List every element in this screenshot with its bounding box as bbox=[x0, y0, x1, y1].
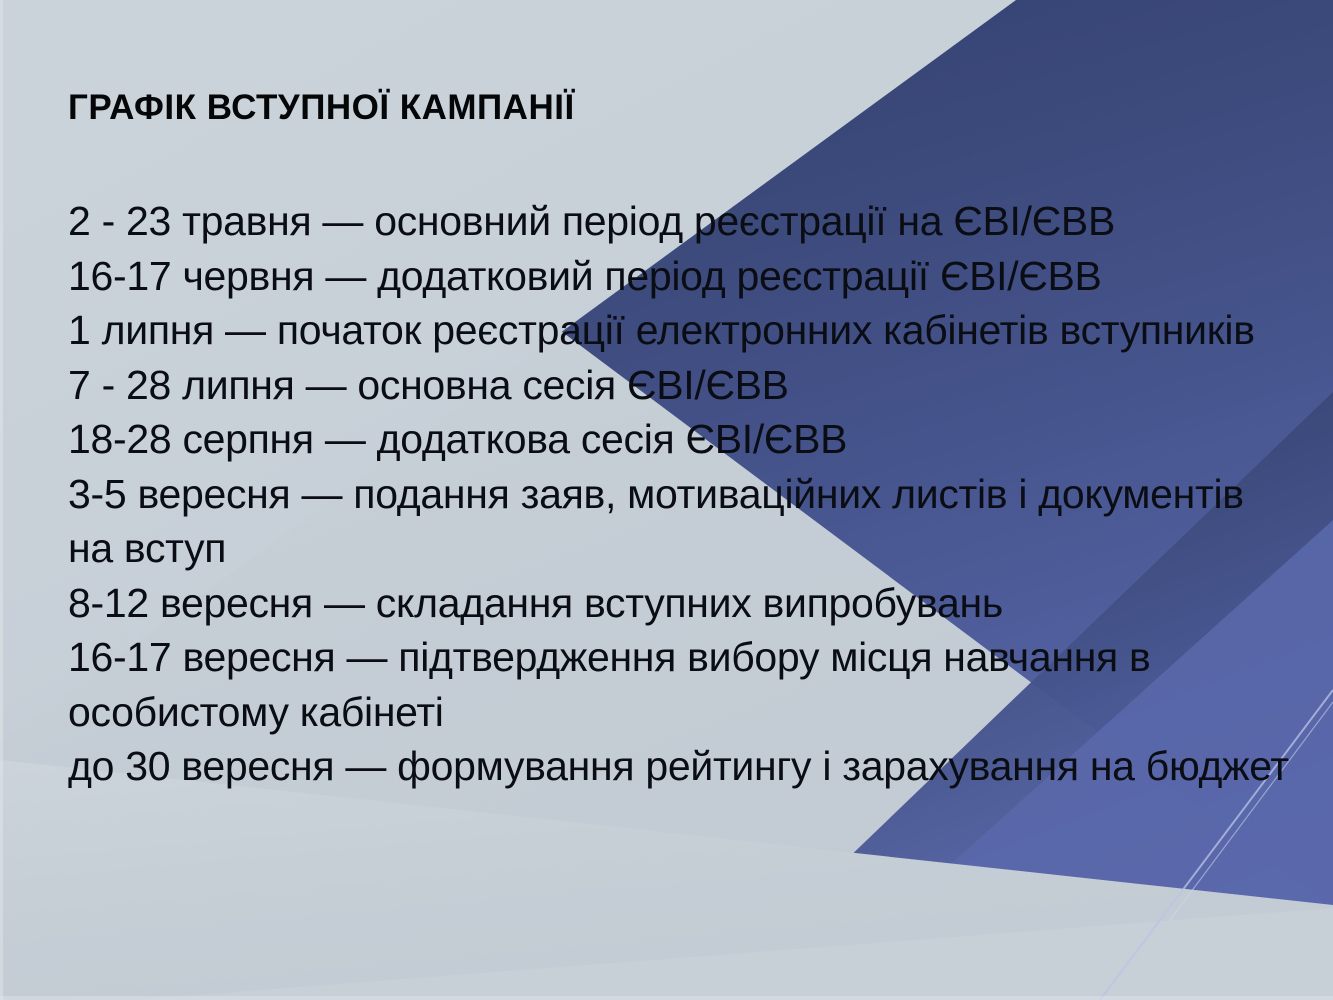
list-item: 8-12 вересня — складання вступних випроб… bbox=[68, 576, 1298, 631]
list-item: 1 липня — початок реєстрації електронних… bbox=[68, 303, 1298, 358]
list-item: 16-17 вересня — підтвердження вибору міс… bbox=[68, 630, 1298, 739]
list-item: до 30 вересня — формування рейтингу і за… bbox=[68, 739, 1298, 794]
list-item: 3-5 вересня — подання заяв, мотиваційних… bbox=[68, 467, 1298, 576]
list-item: 18-28 серпня — додаткова сесія ЄВІ/ЄВВ bbox=[68, 412, 1298, 467]
list-item: 2 - 23 травня — основний період реєстрац… bbox=[68, 194, 1298, 249]
slide-content: ГРАФІК ВСТУПНОЇ КАМПАНІЇ 2 - 23 травня —… bbox=[0, 0, 1333, 1000]
schedule-list: 2 - 23 травня — основний період реєстрац… bbox=[68, 194, 1298, 794]
page-title: ГРАФІК ВСТУПНОЇ КАМПАНІЇ bbox=[68, 88, 575, 128]
list-item: 16-17 червня — додатковий період реєстра… bbox=[68, 249, 1298, 304]
presentation-slide: ГРАФІК ВСТУПНОЇ КАМПАНІЇ 2 - 23 травня —… bbox=[0, 0, 1333, 1000]
list-item: 7 - 28 липня — основна сесія ЄВІ/ЄВВ bbox=[68, 358, 1298, 413]
